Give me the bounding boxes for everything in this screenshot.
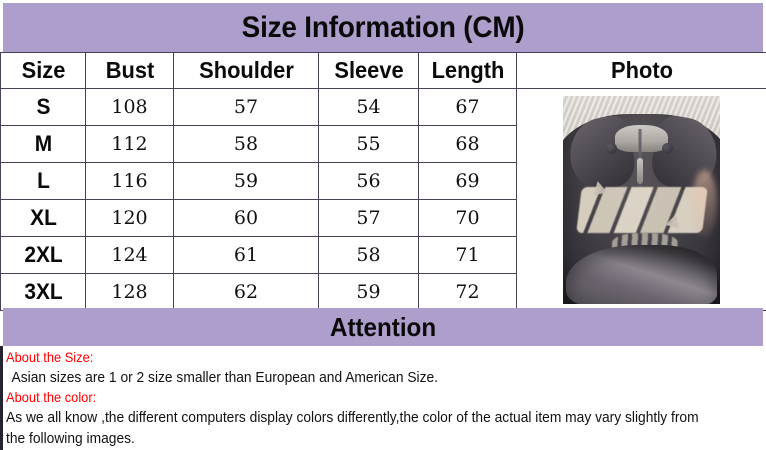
product-photo-hoodie — [563, 96, 720, 304]
cell-shoulder: 59 — [174, 163, 319, 200]
cell-shoulder: 60 — [174, 200, 319, 237]
photo-light-flare — [692, 170, 717, 237]
cell-size: XL — [3, 200, 84, 237]
cell-bust: 108 — [86, 89, 174, 126]
cell-size: 3XL — [3, 274, 84, 311]
cell-length: 68 — [419, 126, 517, 163]
cell-bust: 112 — [86, 126, 174, 163]
column-header-shoulder: Shoulder — [177, 53, 315, 89]
cell-length: 70 — [419, 200, 517, 237]
cell-length: 71 — [419, 237, 517, 274]
cell-shoulder: 58 — [174, 126, 319, 163]
cell-sleeve: 58 — [319, 237, 419, 274]
title-banner: Size Information (CM) — [3, 3, 763, 52]
page-title: Size Information (CM) — [242, 11, 525, 45]
size-chart-page: Size Information (CM) Size Bust Shoulder… — [0, 0, 766, 450]
cell-sleeve: 55 — [319, 126, 419, 163]
cell-shoulder: 61 — [174, 237, 319, 274]
hoodie-drawcord-left — [606, 143, 617, 154]
column-header-bust: Bust — [88, 53, 172, 89]
attention-banner: Attention — [3, 308, 763, 346]
note-heading-size: About the Size: — [6, 348, 702, 367]
cell-sleeve: 56 — [319, 163, 419, 200]
cell-sleeve: 54 — [319, 89, 419, 126]
column-header-length: Length — [421, 53, 514, 89]
cell-size: S — [3, 89, 84, 126]
cell-sleeve: 57 — [319, 200, 419, 237]
note-body-size: Asian sizes are 1 or 2 size smaller than… — [6, 367, 702, 388]
cell-length: 72 — [419, 274, 517, 311]
cell-bust: 116 — [86, 163, 174, 200]
cell-size: 2XL — [3, 237, 84, 274]
column-header-photo: Photo — [523, 53, 761, 89]
cell-size: L — [3, 163, 84, 200]
column-header-size: Size — [3, 53, 84, 89]
hoodie-zipper-pull — [637, 158, 643, 184]
size-information-table: Size Bust Shoulder Sleeve Length Photo S… — [0, 52, 766, 311]
hoodie-collar-label — [615, 125, 668, 152]
attention-title: Attention — [330, 312, 436, 343]
cell-bust: 128 — [86, 274, 174, 311]
cell-length: 69 — [419, 163, 517, 200]
product-photo-cell — [517, 89, 766, 311]
cell-sleeve: 59 — [319, 274, 419, 311]
column-header-sleeve: Sleeve — [321, 53, 416, 89]
note-heading-color: About the color: — [6, 388, 702, 407]
hoodie-star-graphic — [590, 179, 606, 195]
cell-bust: 124 — [86, 237, 174, 274]
cell-shoulder: 57 — [174, 89, 319, 126]
attention-notes: About the Size: Asian sizes are 1 or 2 s… — [0, 346, 766, 450]
cell-shoulder: 62 — [174, 274, 319, 311]
table-header-row: Size Bust Shoulder Sleeve Length Photo — [1, 53, 766, 89]
cell-length: 67 — [419, 89, 517, 126]
cell-size: M — [3, 126, 84, 163]
cell-bust: 120 — [86, 200, 174, 237]
note-body-color: As we all know ,the different computers … — [6, 407, 702, 449]
table-row: S 108 57 54 67 — [1, 89, 766, 126]
hoodie-sleeve — [566, 245, 717, 303]
